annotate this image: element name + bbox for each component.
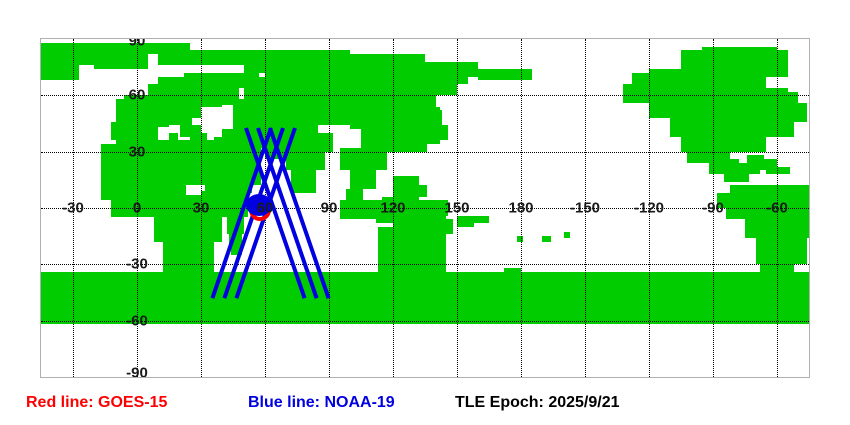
longitude-label: -60 — [766, 200, 788, 217]
longitude-label: -150 — [570, 200, 600, 217]
longitude-label: 60 — [257, 200, 274, 217]
latitude-label: 30 — [129, 143, 146, 160]
legend-tle-epoch: TLE Epoch: 2025/9/21 — [455, 394, 620, 412]
legend-blue-line: Blue line: NOAA-19 — [248, 394, 395, 412]
latitude-label: -60 — [126, 312, 148, 329]
latitude-label: -30 — [126, 256, 148, 273]
longitude-label: 90 — [321, 200, 338, 217]
longitude-label: -120 — [634, 200, 664, 217]
longitude-label: 180 — [508, 200, 533, 217]
longitude-label: -30 — [62, 200, 84, 217]
legend-red-line: Red line: GOES-15 — [26, 394, 167, 412]
longitude-label: 150 — [444, 200, 469, 217]
latitude-label: -90 — [126, 365, 148, 379]
latitude-label: 60 — [129, 87, 146, 104]
legend: Red line: GOES-15 Blue line: NOAA-19 TLE… — [0, 392, 850, 422]
longitude-label: -90 — [702, 200, 724, 217]
world-map: -300306090120150180-150-120-90-609060300… — [40, 38, 810, 378]
longitude-label: 30 — [193, 200, 210, 217]
latitude-label: 90 — [129, 38, 146, 50]
longitude-label: 120 — [380, 200, 405, 217]
latitude-label: 0 — [133, 200, 141, 217]
satellite-track-layer — [41, 39, 809, 377]
